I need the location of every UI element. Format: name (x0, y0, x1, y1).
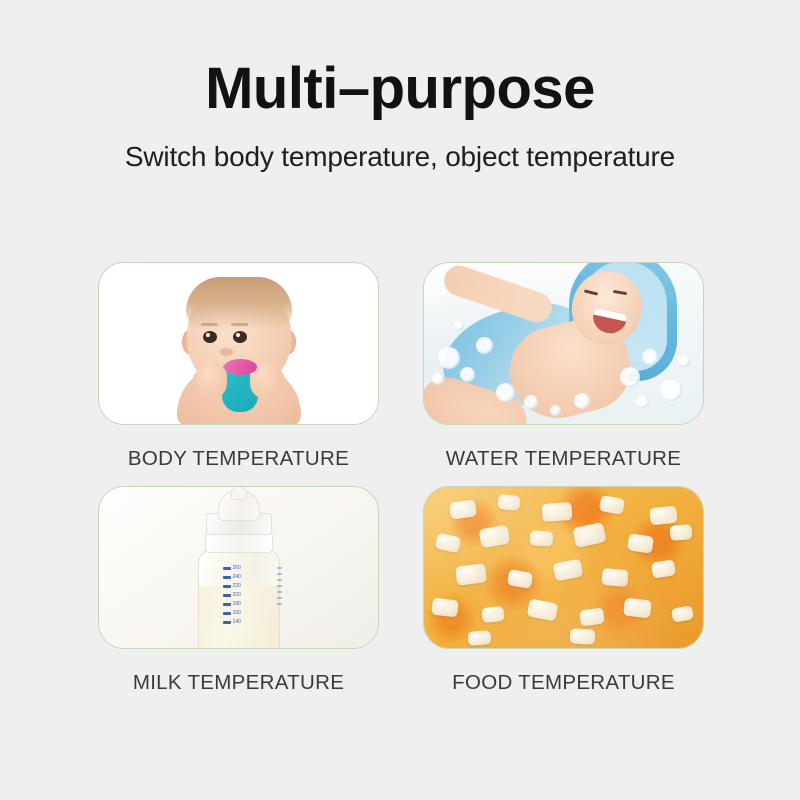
card-label-water-temperature: WATER TEMPERATURE (423, 447, 704, 471)
scale-mark: 180 (233, 602, 241, 607)
page-subtitle: Switch body temperature, object temperat… (0, 141, 800, 173)
scale-mark: 260 (233, 566, 241, 571)
feature-card-grid: BODY TEMPERATURE (98, 262, 704, 695)
feature-card-body-temperature[interactable]: BODY TEMPERATURE (98, 262, 379, 471)
porridge-image (424, 487, 703, 648)
scale-mark: 220 (233, 584, 241, 589)
card-frame-body-temperature[interactable] (98, 262, 379, 425)
baby-teether-image (99, 263, 378, 424)
bottle-scale: 260 240 220 200 180 160 140 (223, 565, 241, 626)
card-label-body-temperature: BODY TEMPERATURE (98, 447, 379, 471)
card-frame-water-temperature[interactable] (423, 262, 704, 425)
card-label-food-temperature: FOOD TEMPERATURE (423, 671, 704, 695)
scale-mark: 240 (233, 575, 241, 580)
scale-mark: 200 (233, 593, 241, 598)
card-label-milk-temperature: MILK TEMPERATURE (98, 671, 379, 695)
scale-mark: 160 (233, 611, 241, 616)
baby-bottle-image: 260 240 220 200 180 160 140 (99, 487, 378, 648)
card-frame-food-temperature[interactable] (423, 486, 704, 649)
baby-bath-image (424, 263, 703, 424)
feature-card-water-temperature[interactable]: WATER TEMPERATURE (423, 262, 704, 471)
card-frame-milk-temperature[interactable]: 260 240 220 200 180 160 140 (98, 486, 379, 649)
feature-card-food-temperature[interactable]: FOOD TEMPERATURE (423, 486, 704, 695)
bottle-scale-secondary (277, 567, 282, 605)
page-title: Multi–purpose (0, 58, 800, 121)
header: Multi–purpose Switch body temperature, o… (0, 58, 800, 173)
promo-page: Multi–purpose Switch body temperature, o… (0, 0, 800, 800)
scale-mark: 140 (233, 620, 241, 625)
feature-card-milk-temperature[interactable]: 260 240 220 200 180 160 140 MILK TEMPERA… (98, 486, 379, 695)
